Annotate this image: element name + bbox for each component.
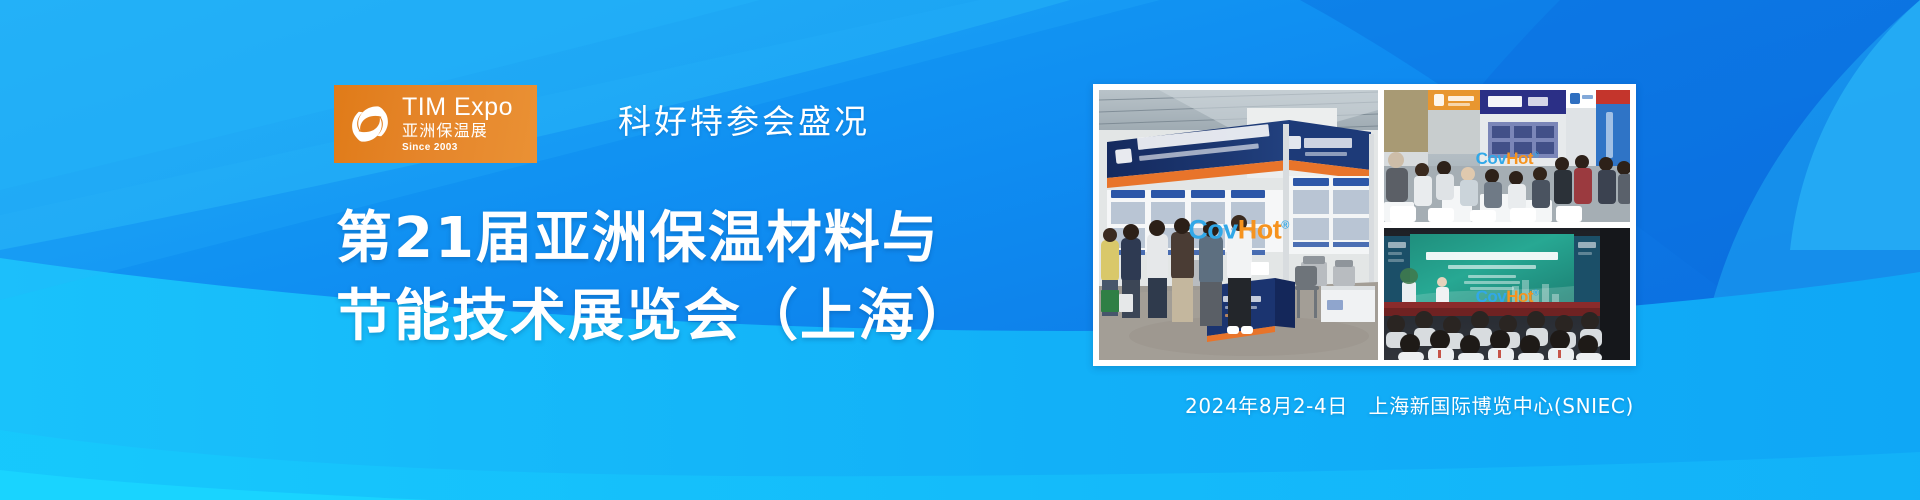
logo-since-label: Since 2003 — [402, 143, 513, 153]
expo-banner: TIM Expo 亚洲保温展 Since 2003 科好特参会盛况 第21届亚洲… — [0, 0, 1920, 500]
photo-booth-main: CovHot® — [1099, 90, 1378, 360]
photo-forum-stage: CovHot® — [1384, 228, 1630, 360]
page-title: 第21届亚洲保温材料与 节能技术展览会（上海） — [336, 200, 974, 356]
eyebrow-text: 科好特参会盛况 — [618, 95, 870, 143]
logo-title: TIM Expo — [402, 95, 513, 120]
venue-info: 2024年8月2-4日 上海新国际博览中心(SNIEC) — [1185, 390, 1634, 419]
tim-expo-swirl-icon — [344, 98, 396, 150]
photo-collage: CovHot® — [1093, 84, 1636, 366]
headline-line-2: 节能技术展览会（上海） — [336, 278, 974, 356]
photo-forum-stage-graphic — [1384, 228, 1630, 360]
tim-expo-logo[interactable]: TIM Expo 亚洲保温展 Since 2003 — [334, 85, 537, 163]
photo-hall-crowd: CovHot® — [1384, 90, 1630, 222]
banner-content: TIM Expo 亚洲保温展 Since 2003 科好特参会盛况 第21届亚洲… — [334, 0, 1094, 500]
logo-text-block: TIM Expo 亚洲保温展 Since 2003 — [402, 95, 513, 153]
photo-hall-crowd-graphic — [1384, 90, 1630, 222]
logo-subtitle: 亚洲保温展 — [402, 123, 513, 139]
photo-booth-main-graphic — [1099, 90, 1378, 360]
photo-side-column: CovHot® — [1384, 90, 1630, 360]
headline-line-1: 第21届亚洲保温材料与 — [336, 200, 974, 278]
